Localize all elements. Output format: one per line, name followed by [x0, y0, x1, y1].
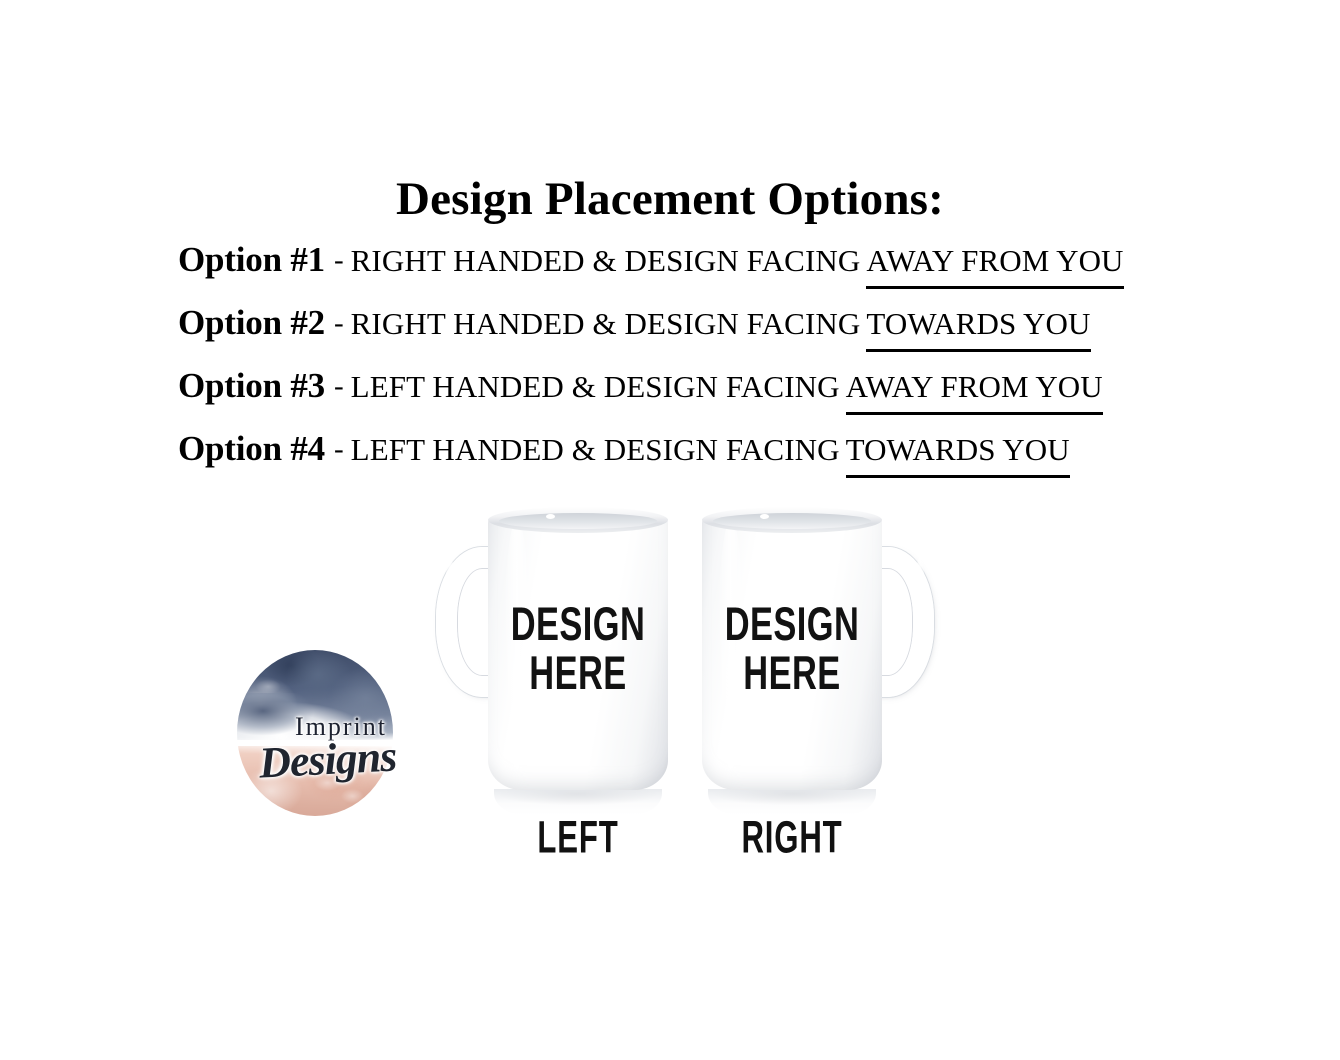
brand-logo: Imprint Designs — [237, 650, 393, 816]
logo-word-designs: Designs — [258, 730, 398, 788]
option-emphasis: AWAY FROM YOU — [846, 366, 1103, 415]
mug-artwork-line-1: DESIGN — [716, 602, 867, 647]
mug-artwork-line-2: HERE — [716, 650, 867, 695]
mug-artwork-line-2: HERE — [502, 650, 653, 695]
page-title: Design Placement Options: — [0, 172, 1340, 226]
mug-artwork-line-1: DESIGN — [502, 602, 653, 647]
option-separator: - — [325, 303, 351, 344]
option-label: Option #4 — [178, 429, 325, 469]
option-emphasis: TOWARDS YOU — [846, 429, 1070, 478]
mug-caption-left: LEFT — [504, 813, 652, 865]
option-emphasis: AWAY FROM YOU — [866, 240, 1123, 289]
mug-caption-right: RIGHT — [718, 813, 866, 865]
option-description: LEFT HANDED & DESIGN FACING — [351, 429, 840, 470]
mug-opening — [713, 513, 871, 529]
option-label: Option #2 — [178, 303, 325, 343]
option-row-3: Option #3 - LEFT HANDED & DESIGN FACING … — [178, 366, 1168, 429]
option-description: RIGHT HANDED & DESIGN FACING — [351, 303, 861, 344]
mug-right: DESIGN HERE RIGHT — [690, 505, 940, 865]
mug-rim-specular — [546, 514, 555, 519]
mug-rim-specular — [760, 514, 769, 519]
option-emphasis: TOWARDS YOU — [866, 303, 1090, 352]
mug-reflection — [708, 789, 876, 815]
option-description: LEFT HANDED & DESIGN FACING — [351, 366, 840, 407]
mug-artwork-placeholder: DESIGN HERE — [488, 605, 668, 692]
mug-opening — [499, 513, 657, 529]
mug-artwork-placeholder: DESIGN HERE — [702, 605, 882, 692]
mug-rim — [488, 507, 668, 533]
option-description: RIGHT HANDED & DESIGN FACING — [351, 240, 861, 281]
option-separator: - — [325, 429, 351, 470]
placement-options-list: Option #1 - RIGHT HANDED & DESIGN FACING… — [178, 240, 1168, 492]
option-row-4: Option #4 - LEFT HANDED & DESIGN FACING … — [178, 429, 1168, 492]
option-label: Option #3 — [178, 366, 325, 406]
option-separator: - — [325, 366, 351, 407]
mug-reflection — [494, 789, 662, 815]
option-separator: - — [325, 240, 351, 281]
mug-left: DESIGN HERE LEFT — [430, 505, 680, 865]
option-row-2: Option #2 - RIGHT HANDED & DESIGN FACING… — [178, 303, 1168, 366]
option-label: Option #1 — [178, 240, 325, 280]
mug-rim — [702, 507, 882, 533]
design-placement-options-graphic: Design Placement Options: Option #1 - RI… — [0, 0, 1340, 1060]
option-row-1: Option #1 - RIGHT HANDED & DESIGN FACING… — [178, 240, 1168, 303]
